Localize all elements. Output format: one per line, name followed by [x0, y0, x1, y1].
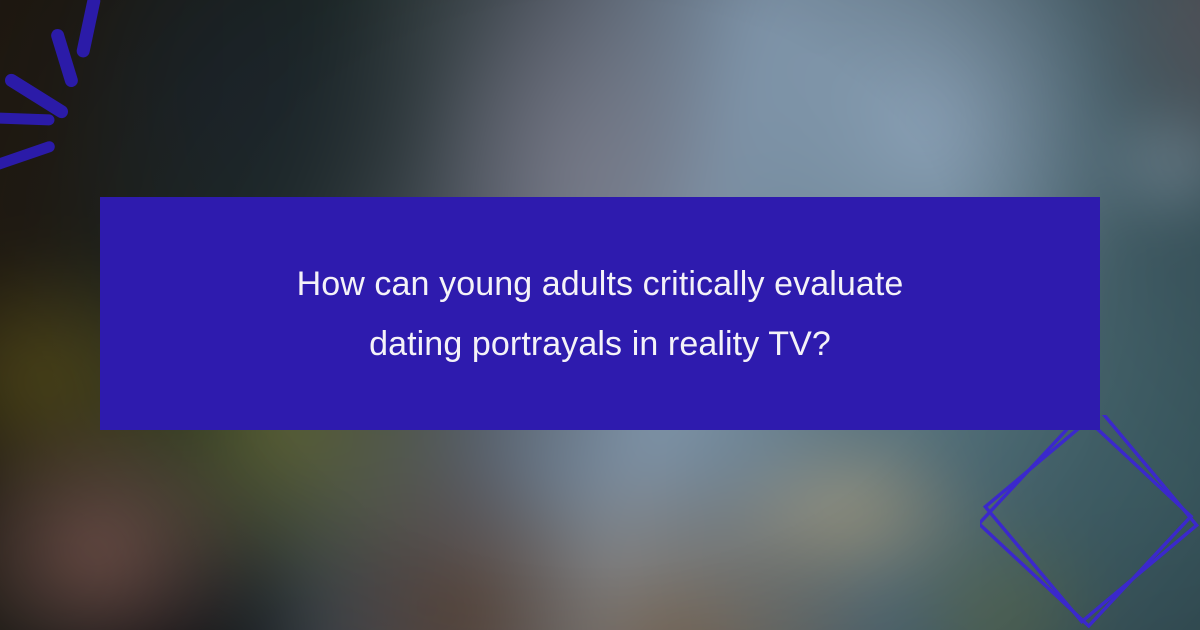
headline-banner: How can young adults critically evaluate… [100, 197, 1100, 430]
page-title: How can young adults critically evaluate… [250, 254, 950, 374]
social-card: How can young adults critically evaluate… [0, 0, 1200, 630]
